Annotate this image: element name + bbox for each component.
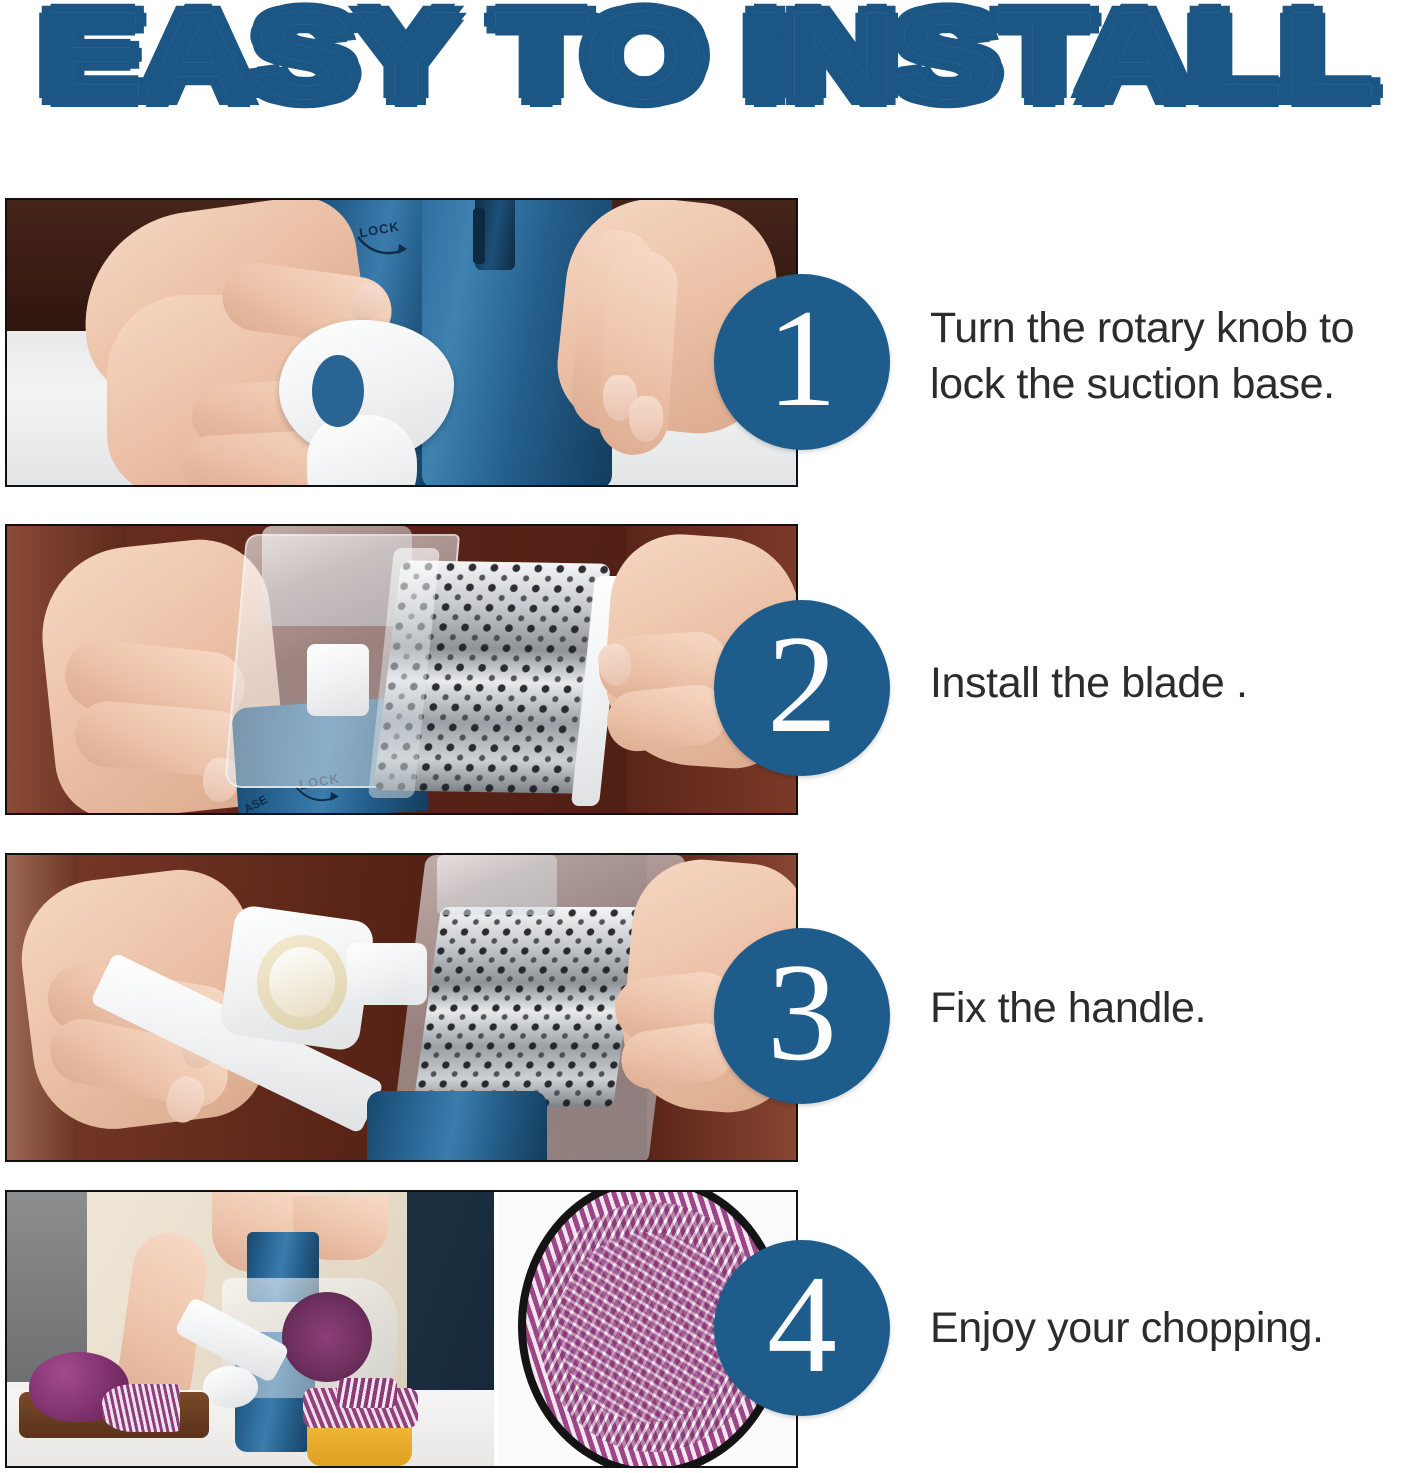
lock-arrow-icon [355, 234, 415, 260]
step-3-badge: 3 [714, 928, 890, 1104]
photo-step-1: LOCK [5, 198, 798, 487]
step-3-photo-panel [5, 853, 798, 1162]
step-1-caption-line-2: lock the suction base. [930, 356, 1400, 412]
step-1-caption-line-1: Turn the rotary knob to [930, 300, 1400, 356]
step-3-caption-line-1: Fix the handle. [930, 980, 1400, 1036]
photo-step-4 [5, 1190, 798, 1468]
step-2-photo-panel: LOCK ASE [5, 524, 798, 815]
page-title: EASY TO INSTALL [40, 0, 1374, 118]
step-4-photo-panel [5, 1190, 798, 1468]
step-4-caption-line-1: Enjoy your chopping. [930, 1300, 1400, 1356]
step-1-caption: Turn the rotary knob to lock the suction… [930, 300, 1400, 412]
step-3-number: 3 [767, 943, 837, 1083]
step-1-number: 1 [767, 289, 837, 429]
step-2-number: 2 [767, 615, 837, 755]
step-2-caption: Install the blade . [930, 655, 1400, 711]
step-4-number: 4 [767, 1255, 837, 1395]
step-2-caption-line-1: Install the blade . [930, 655, 1400, 711]
step-4-badge: 4 [714, 1240, 890, 1416]
step-1-photo-panel: LOCK [5, 198, 798, 487]
step-4-caption: Enjoy your chopping. [930, 1300, 1400, 1356]
header-banner: EASY TO INSTALL EASY TO INSTALL [0, 0, 1413, 132]
step-2-badge: 2 [714, 600, 890, 776]
step-3-caption: Fix the handle. [930, 980, 1400, 1036]
step-1-badge: 1 [714, 274, 890, 450]
photo-step-3 [5, 853, 798, 1162]
photo-step-2: LOCK ASE [5, 524, 798, 815]
